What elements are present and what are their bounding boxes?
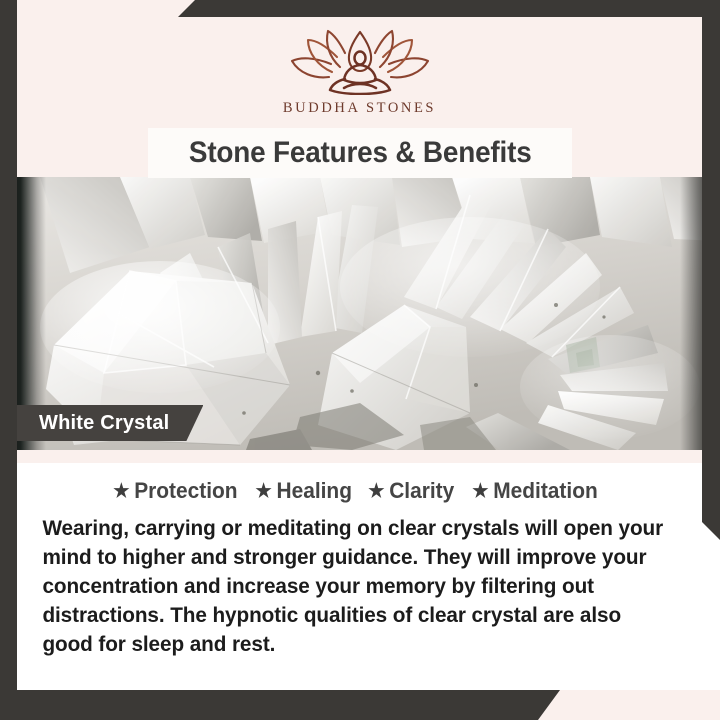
- stone-info-card: BUDDHA STONES Stone Features & Benefits: [0, 0, 720, 720]
- stone-description: Wearing, carrying or meditating on clear…: [27, 514, 673, 659]
- benefit-label: Protection: [134, 478, 237, 504]
- star-icon: ★: [113, 482, 129, 501]
- benefit-healing: ★ Healing: [255, 478, 351, 504]
- benefit-label: Clarity: [390, 478, 455, 504]
- benefits-row: ★ Protection ★ Healing ★ Clarity ★ Medit…: [27, 473, 696, 509]
- photo-vignette-right: [680, 177, 720, 450]
- lotus-meditation-icon: [285, 29, 435, 95]
- page-title: Stone Features & Benefits: [189, 136, 532, 170]
- brand-name: BUDDHA STONES: [283, 100, 436, 117]
- star-icon: ★: [369, 482, 385, 501]
- benefit-label: Healing: [276, 478, 351, 504]
- stone-name-label: White Crystal: [39, 412, 169, 435]
- divider-strip: [17, 450, 720, 463]
- benefit-label: Meditation: [493, 478, 598, 504]
- brand-header: BUDDHA STONES: [17, 17, 702, 129]
- star-icon: ★: [255, 482, 271, 501]
- title-banner: Stone Features & Benefits: [148, 128, 572, 178]
- stone-name-badge: White Crystal: [17, 405, 203, 441]
- benefit-clarity: ★ Clarity: [369, 478, 455, 504]
- star-icon: ★: [472, 482, 488, 501]
- frame-band-bottom: [0, 690, 560, 720]
- benefit-meditation: ★ Meditation: [472, 478, 597, 504]
- frame-band-top: [178, 0, 720, 17]
- benefit-protection: ★ Protection: [113, 478, 237, 504]
- content-panel: ★ Protection ★ Healing ★ Clarity ★ Medit…: [17, 463, 720, 690]
